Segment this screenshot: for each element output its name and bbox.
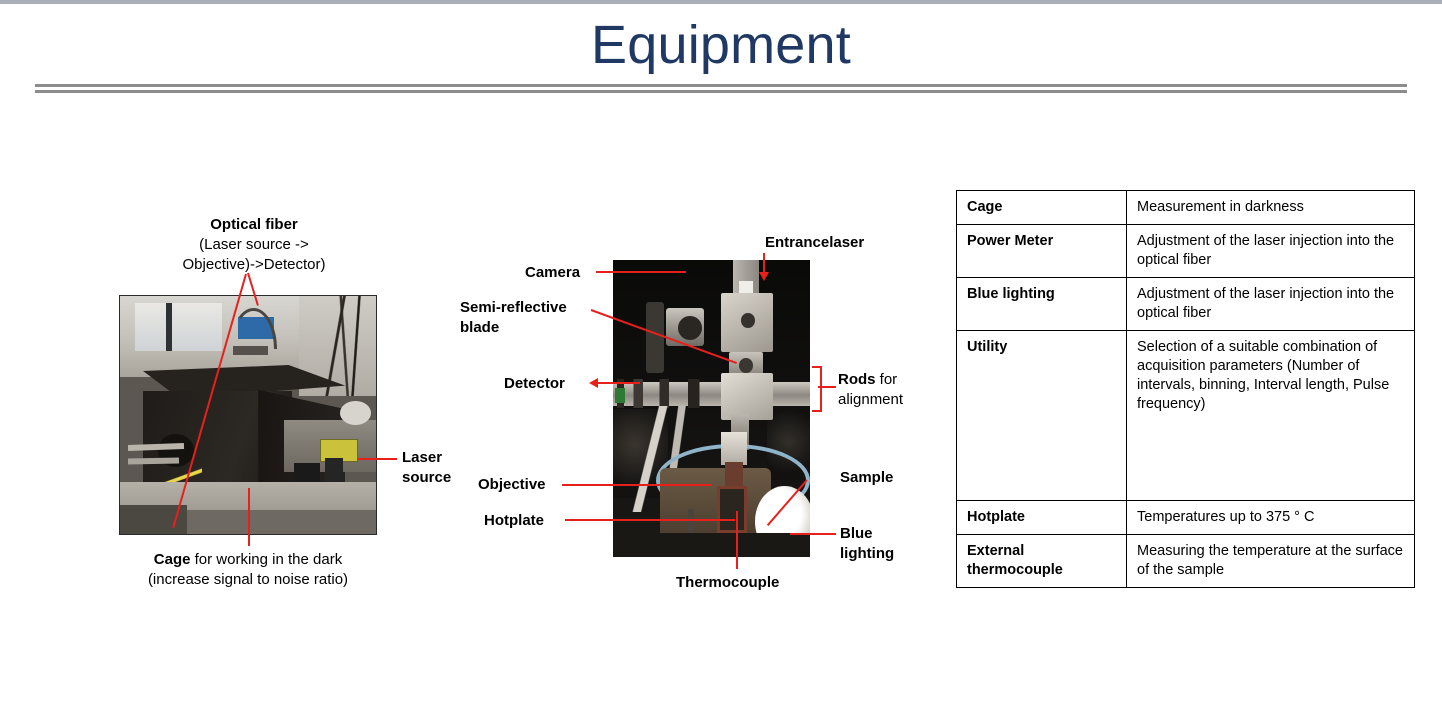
entrance-laser-label: Entrancelaser	[765, 233, 864, 253]
cage-caption-line2: (increase signal to noise ratio)	[110, 570, 386, 590]
arrow-detector	[589, 378, 598, 388]
leader-line-laser-source	[357, 458, 397, 460]
table-cell-name: External thermocouple	[957, 535, 1127, 588]
equipment-spec-table-body: Cage Measurement in darkness Power Meter…	[957, 191, 1415, 588]
camera-label: Camera	[525, 263, 580, 283]
page-title: Equipment	[0, 14, 1442, 76]
table-row: Utility Selection of a suitable combinat…	[957, 331, 1415, 501]
rods-label-line2: alignment	[838, 391, 903, 408]
table-cell-description: Measurement in darkness	[1127, 191, 1415, 225]
table-cell-name: Power Meter	[957, 225, 1127, 278]
table-cell-name: Cage	[957, 191, 1127, 225]
rods-label-bold: Rods	[838, 371, 876, 388]
table-row: Hotplate Temperatures up to 375 ° C	[957, 501, 1415, 535]
table-cell-description: Temperatures up to 375 ° C	[1127, 501, 1415, 535]
optical-fiber-sublabel: (Laser source -> Objective)->Detector)	[136, 235, 372, 275]
semi-reflective-blade-label-line2: blade	[460, 319, 499, 336]
photo-white-equipment	[340, 401, 371, 425]
table-cell-description: Selection of a suitable combination of a…	[1127, 331, 1415, 501]
leader-line-thermocouple	[736, 511, 738, 569]
hotplate-label: Hotplate	[484, 511, 544, 531]
photo-camera-body	[646, 302, 664, 373]
detector-label: Detector	[504, 374, 565, 394]
blue-lighting-label-line2: lighting	[840, 545, 894, 562]
cage-caption: Cage for working in the dark	[110, 550, 386, 570]
leader-line-blue-lighting	[790, 533, 836, 535]
leader-line-hotplate	[565, 519, 735, 521]
equipment-spec-table: Cage Measurement in darkness Power Meter…	[956, 190, 1415, 588]
table-cell-name: Blue lighting	[957, 278, 1127, 331]
photo-hotplate	[660, 468, 770, 539]
table-cell-description: Adjustment of the laser injection into t…	[1127, 278, 1415, 331]
rods-label-rest: for	[876, 371, 898, 388]
cage-caption-rest: for working in the dark	[190, 551, 342, 568]
table-row: Power Meter Adjustment of the laser inje…	[957, 225, 1415, 278]
sample-label: Sample	[840, 468, 893, 488]
bracket-rods	[812, 366, 822, 412]
semi-reflective-blade-label-line1: Semi-reflective	[460, 299, 567, 316]
photo-center-mount-plate	[721, 373, 772, 421]
leader-line-detector	[598, 382, 640, 384]
table-cell-name: Utility	[957, 331, 1127, 501]
photo-bottom-shadow	[613, 533, 810, 557]
photo-window-bar	[166, 303, 172, 351]
laser-source-label-line1: Laser	[402, 449, 442, 466]
blue-lighting-label: Blue lighting	[840, 524, 910, 564]
table-row: Cage Measurement in darkness	[957, 191, 1415, 225]
laser-source-label-line2: source	[402, 469, 451, 486]
title-divider-line-top	[35, 84, 1407, 87]
laser-source-label: Laser source	[402, 448, 472, 488]
rods-label: Rods for alignment	[838, 370, 918, 410]
optical-fiber-label: Optical fiber	[136, 215, 372, 235]
table-row: External thermocouple Measuring the temp…	[957, 535, 1415, 588]
photo-detector-module	[615, 388, 625, 403]
optical-fiber-sublabel-line1: (Laser source ->	[199, 236, 309, 253]
photo-camera-aperture	[678, 316, 702, 340]
objective-label: Objective	[478, 475, 546, 495]
photo-objective-lens	[721, 432, 747, 465]
photo-objective-nose	[725, 462, 743, 486]
photo-sample-holder	[717, 486, 747, 534]
table-cell-name: Hotplate	[957, 501, 1127, 535]
semi-reflective-blade-label: Semi-reflective blade	[460, 298, 585, 338]
photo-laser-entrance-tip	[739, 281, 753, 293]
table-cell-description: Measuring the temperature at the surface…	[1127, 535, 1415, 588]
arrow-entrance-laser	[759, 272, 769, 281]
photo-beam-splitter-aperture	[739, 358, 753, 373]
blue-lighting-label-line1: Blue	[840, 525, 873, 542]
leader-line-rods	[818, 386, 836, 388]
cage-caption-bold: Cage	[154, 551, 191, 568]
photo-fiber-mount	[233, 346, 269, 356]
microscope-setup-photo	[613, 260, 810, 557]
title-divider-line-bottom	[35, 90, 1407, 93]
leader-line-cage	[248, 488, 250, 546]
leader-line-camera	[596, 271, 686, 273]
window-top-bar	[0, 0, 1442, 4]
leader-line-objective	[562, 484, 712, 486]
table-row: Blue lighting Adjustment of the laser in…	[957, 278, 1415, 331]
title-divider	[35, 84, 1407, 94]
thermocouple-label: Thermocouple	[676, 573, 779, 593]
optical-fiber-sublabel-line2: Objective)->Detector)	[183, 256, 326, 273]
photo-window	[135, 303, 222, 351]
table-cell-description: Adjustment of the laser injection into t…	[1127, 225, 1415, 278]
photo-top-mount-hole	[741, 313, 755, 328]
